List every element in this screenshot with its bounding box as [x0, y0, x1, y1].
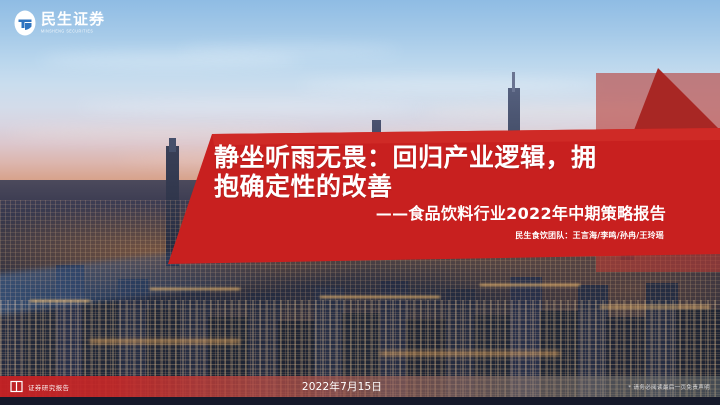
footer-date: 2022年7月15日	[212, 379, 472, 394]
minsheng-logo-mark-icon	[14, 10, 36, 36]
subtitle: ——食品饮料行业2022年中期策略报告	[214, 203, 674, 225]
presentation-slide: 民生证券 MINSHENG SECURITIES 静坐听雨无畏：回归产业逻辑，拥…	[0, 0, 720, 405]
street-light	[600, 306, 710, 308]
brand-name-en: MINSHENG SECURITIES	[41, 30, 105, 34]
street-light	[30, 300, 90, 302]
open-book-icon	[10, 380, 23, 393]
street-light	[480, 284, 580, 286]
brand-name-cn: 民生证券	[41, 12, 105, 27]
footer-report-type-label: 证券研究报告	[28, 382, 69, 392]
brand-logo-text: 民生证券 MINSHENG SECURITIES	[41, 12, 105, 33]
title-block: 静坐听雨无畏：回归产业逻辑，拥 抱确定性的改善 ——食品饮料行业2022年中期策…	[214, 143, 674, 243]
title-line-2: 抱确定性的改善	[214, 172, 674, 201]
street-light	[150, 288, 240, 290]
street-light	[380, 352, 560, 355]
author-line: 民生食饮团队：王言海/李鸣/孙冉/王玲瑶	[214, 229, 674, 243]
cloud-shape	[180, 44, 400, 57]
title-line-1: 静坐听雨无畏：回归产业逻辑，拥	[214, 143, 674, 172]
street-light	[320, 296, 440, 298]
footer-disclaimer: * 请务必阅读最后一页免责声明	[530, 383, 720, 391]
street-light	[90, 340, 240, 343]
skyscraper	[512, 72, 515, 92]
cloud-shape	[300, 78, 600, 93]
cloud-shape	[80, 100, 420, 114]
footer-bar: 证券研究报告 2022年7月15日 * 请务必阅读最后一页免责声明	[0, 376, 720, 397]
brand-logo: 民生证券 MINSHENG SECURITIES	[14, 10, 105, 36]
bottom-strip	[0, 397, 720, 405]
